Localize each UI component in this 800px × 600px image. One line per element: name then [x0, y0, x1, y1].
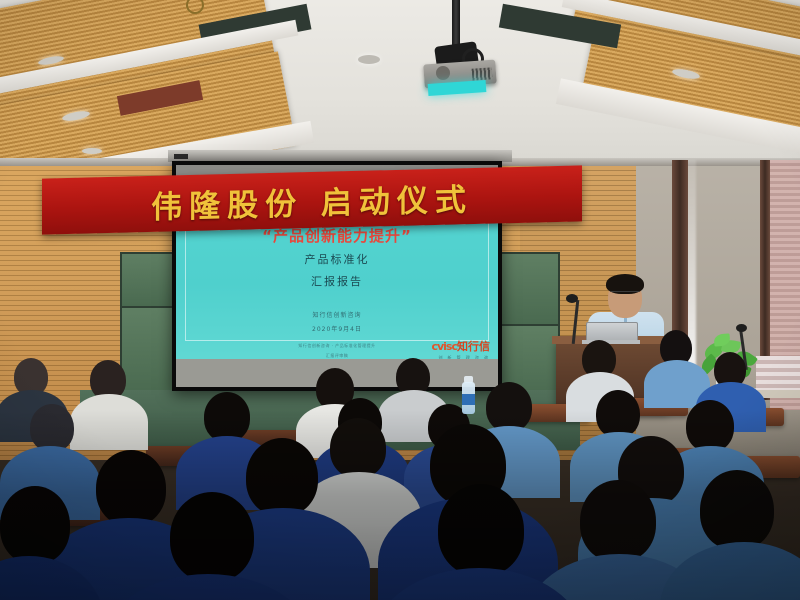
presenter-glasses — [611, 291, 639, 298]
logo-name-text: 知行信 — [457, 341, 490, 353]
wall-accent-panel — [120, 306, 176, 396]
person-head — [686, 400, 734, 452]
person-head — [580, 480, 656, 562]
slide-subtitle-1: 产品标准化 — [176, 251, 498, 267]
logo-mark-text: cvisc — [431, 340, 457, 353]
bottle-label — [462, 394, 475, 405]
projector-lens — [436, 66, 450, 80]
projector-vent — [472, 67, 493, 80]
slide-date: 2020年9月4日 — [176, 324, 498, 333]
slide-logo: cvisc知行信 创 新 管 理 咨 询 — [431, 337, 490, 361]
person-head — [30, 404, 74, 452]
stacked-tray — [756, 356, 800, 390]
person-head — [486, 382, 532, 432]
slide-subtitle-2: 汇报报告 — [176, 273, 498, 289]
ceiling — [0, 0, 800, 175]
ceiling-light — [82, 148, 102, 154]
wall-accent-panel — [120, 252, 176, 308]
person-head — [700, 470, 774, 550]
person-shoulders — [70, 394, 148, 450]
person-head — [204, 392, 250, 442]
person-head — [246, 438, 318, 516]
person-head — [0, 486, 70, 564]
banner-text: 伟隆股份 启动仪式 — [42, 171, 582, 229]
microphone-head — [566, 294, 578, 303]
person-head — [438, 484, 524, 576]
ceiling-light — [358, 55, 380, 64]
microphone-head — [736, 324, 747, 332]
person-head — [170, 492, 254, 582]
person-head — [96, 450, 166, 526]
wall-accent-panel — [498, 252, 560, 326]
slide-organization: 知行信创新咨询 — [176, 310, 498, 319]
person-head — [596, 390, 640, 438]
person-head — [330, 418, 386, 478]
screen-case-end — [174, 154, 188, 159]
conference-room-photo: 伟隆股份 启动仪式 青岛伟隆阀门股份有限公司 “产品创新能力提升” 产品标准化 … — [0, 0, 800, 600]
